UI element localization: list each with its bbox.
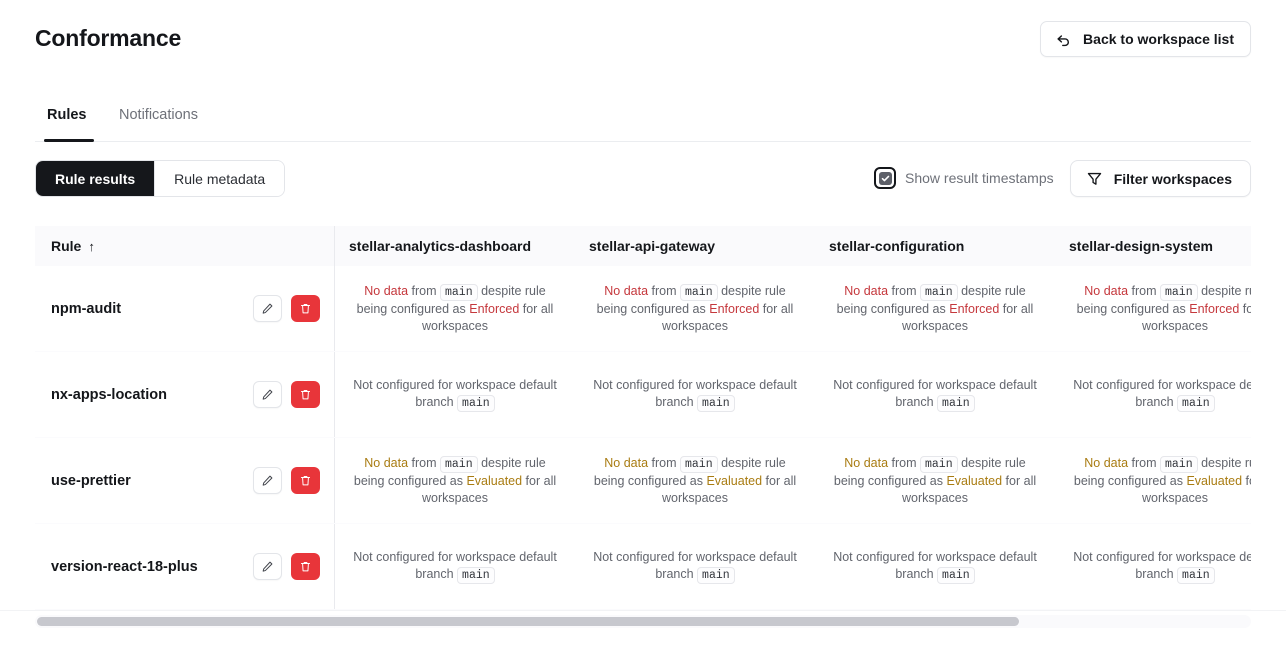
status-mode: Enforced — [949, 302, 999, 316]
column-header-workspace-1-label: stellar-analytics-dashboard — [349, 238, 531, 254]
column-header-rule-label: Rule — [51, 238, 81, 254]
tab-bar-divider — [35, 141, 1251, 142]
segment-rule-results-label: Rule results — [55, 171, 135, 187]
rule-name: use-prettier — [51, 473, 253, 489]
segment-rule-results[interactable]: Rule results — [36, 161, 154, 196]
segment-rule-metadata[interactable]: Rule metadata — [154, 161, 284, 196]
back-to-workspace-list-button[interactable]: Back to workspace list — [1040, 21, 1251, 57]
result-cell-workspace-2: No data from main despite rule being con… — [575, 438, 815, 523]
delete-rule-button[interactable] — [291, 381, 320, 408]
rule-actions — [253, 467, 320, 494]
rule-cell: use-prettier — [35, 438, 335, 523]
result-cell-workspace-3: Not configured for workspace default bra… — [815, 524, 1055, 609]
result-cell-workspace-2: Not configured for workspace default bra… — [575, 524, 815, 609]
result-message: Not configured for workspace default bra… — [1069, 377, 1251, 412]
conformance-page: Conformance Back to workspace list Rules… — [0, 0, 1286, 667]
rule-name: npm-audit — [51, 301, 253, 317]
status-not-configured: Not configured for workspace default bra… — [833, 550, 1037, 581]
page-title: Conformance — [35, 25, 181, 52]
table-bottom-divider — [0, 610, 1286, 611]
result-message: No data from main despite rule being con… — [829, 455, 1041, 507]
table-toolbar: Rule results Rule metadata Show result t… — [0, 160, 1286, 200]
result-message: No data from main despite rule being con… — [829, 283, 1041, 335]
branch-chip: main — [440, 456, 478, 473]
pencil-icon — [261, 560, 274, 573]
branch-chip: main — [680, 456, 718, 473]
result-message: No data from main despite rule being con… — [589, 283, 801, 335]
column-header-rule[interactable]: Rule ↑ — [35, 226, 335, 266]
result-cell-workspace-4: Not configured for workspace default bra… — [1055, 524, 1251, 609]
result-cell-workspace-4: Not configured for workspace default bra… — [1055, 352, 1251, 437]
table-row: version-react-18-plusNot configured for … — [35, 524, 1251, 610]
delete-rule-button[interactable] — [291, 553, 320, 580]
status-no-data: No data — [604, 456, 648, 470]
table-row: use-prettierNo data from main despite ru… — [35, 438, 1251, 524]
delete-rule-button[interactable] — [291, 467, 320, 494]
delete-rule-button[interactable] — [291, 295, 320, 322]
show-result-timestamps-label: Show result timestamps — [905, 170, 1054, 186]
status-mode: Evaluated — [946, 474, 1002, 488]
result-cell-workspace-2: Not configured for workspace default bra… — [575, 352, 815, 437]
result-message: Not configured for workspace default bra… — [589, 549, 801, 584]
page-header: Conformance Back to workspace list — [0, 0, 1286, 78]
rule-actions — [253, 295, 320, 322]
rules-results-table: Rule ↑ stellar-analytics-dashboard stell… — [35, 226, 1251, 610]
branch-chip: main — [457, 395, 495, 412]
trash-icon — [299, 474, 312, 487]
status-no-data: No data — [1084, 456, 1128, 470]
column-header-workspace-3[interactable]: stellar-configuration — [815, 226, 1055, 266]
result-message: Not configured for workspace default bra… — [349, 549, 561, 584]
status-not-configured: Not configured for workspace default bra… — [593, 378, 797, 409]
rule-actions — [253, 381, 320, 408]
column-header-workspace-4[interactable]: stellar-design-system — [1055, 226, 1251, 266]
status-no-data: No data — [604, 284, 648, 298]
result-cell-workspace-3: No data from main despite rule being con… — [815, 438, 1055, 523]
status-not-configured: Not configured for workspace default bra… — [353, 550, 557, 581]
result-message: Not configured for workspace default bra… — [829, 549, 1041, 584]
tab-rules[interactable]: Rules — [47, 104, 87, 142]
branch-chip: main — [1160, 284, 1198, 301]
show-result-timestamps-toggle[interactable]: Show result timestamps — [874, 167, 1054, 189]
result-cell-workspace-1: No data from main despite rule being con… — [335, 266, 575, 351]
status-not-configured: Not configured for workspace default bra… — [1073, 550, 1251, 581]
result-message: No data from main despite rule being con… — [1069, 283, 1251, 335]
result-message: Not configured for workspace default bra… — [1069, 549, 1251, 584]
result-cell-workspace-4: No data from main despite rule being con… — [1055, 266, 1251, 351]
rule-cell: nx-apps-location — [35, 352, 335, 437]
sort-ascending-icon: ↑ — [88, 239, 95, 254]
status-not-configured: Not configured for workspace default bra… — [593, 550, 797, 581]
tab-notifications-label: Notifications — [119, 107, 198, 123]
branch-chip: main — [440, 284, 478, 301]
pencil-icon — [261, 302, 274, 315]
trash-icon — [299, 302, 312, 315]
table-body: npm-auditNo data from main despite rule … — [35, 266, 1251, 610]
table-row: nx-apps-locationNot configured for works… — [35, 352, 1251, 438]
rule-name: nx-apps-location — [51, 387, 253, 403]
branch-chip: main — [697, 395, 735, 412]
view-mode-segmented-control: Rule results Rule metadata — [35, 160, 285, 197]
branch-chip: main — [680, 284, 718, 301]
status-not-configured: Not configured for workspace default bra… — [1073, 378, 1251, 409]
edit-rule-button[interactable] — [253, 467, 282, 494]
filter-funnel-icon — [1086, 170, 1103, 187]
status-mode: Enforced — [469, 302, 519, 316]
rules-results-table-viewport: Rule ↑ stellar-analytics-dashboard stell… — [35, 226, 1251, 611]
result-message: Not configured for workspace default bra… — [349, 377, 561, 412]
branch-chip: main — [937, 395, 975, 412]
edit-rule-button[interactable] — [253, 381, 282, 408]
status-no-data: No data — [844, 456, 888, 470]
tab-bar: Rules Notifications — [0, 104, 1286, 142]
horizontal-scrollbar-thumb[interactable] — [37, 617, 1019, 626]
branch-chip: main — [1160, 456, 1198, 473]
column-header-workspace-4-label: stellar-design-system — [1069, 238, 1213, 254]
branch-chip: main — [457, 567, 495, 584]
result-message: No data from main despite rule being con… — [349, 455, 561, 507]
filter-workspaces-label: Filter workspaces — [1114, 171, 1232, 187]
filter-workspaces-button[interactable]: Filter workspaces — [1070, 160, 1251, 197]
rule-cell: version-react-18-plus — [35, 524, 335, 609]
status-not-configured: Not configured for workspace default bra… — [353, 378, 557, 409]
segment-rule-metadata-label: Rule metadata — [174, 171, 265, 187]
table-header-row: Rule ↑ stellar-analytics-dashboard stell… — [35, 226, 1251, 266]
pencil-icon — [261, 388, 274, 401]
rule-actions — [253, 553, 320, 580]
back-button-label: Back to workspace list — [1083, 31, 1234, 47]
branch-chip: main — [697, 567, 735, 584]
back-arrow-icon — [1055, 31, 1072, 48]
status-mode: Enforced — [709, 302, 759, 316]
result-message: No data from main despite rule being con… — [1069, 455, 1251, 507]
status-no-data: No data — [364, 284, 408, 298]
result-cell-workspace-4: No data from main despite rule being con… — [1055, 438, 1251, 523]
result-message: No data from main despite rule being con… — [349, 283, 561, 335]
status-mode: Evaluated — [1186, 474, 1242, 488]
pencil-icon — [261, 474, 274, 487]
result-message: Not configured for workspace default bra… — [589, 377, 801, 412]
column-header-workspace-1[interactable]: stellar-analytics-dashboard — [335, 226, 575, 266]
trash-icon — [299, 388, 312, 401]
result-cell-workspace-1: Not configured for workspace default bra… — [335, 524, 575, 609]
status-no-data: No data — [364, 456, 408, 470]
horizontal-scrollbar-track[interactable] — [35, 615, 1251, 628]
checkbox-checked-icon[interactable] — [874, 167, 896, 189]
column-header-workspace-2[interactable]: stellar-api-gateway — [575, 226, 815, 266]
tab-notifications[interactable]: Notifications — [119, 104, 198, 142]
result-cell-workspace-3: No data from main despite rule being con… — [815, 266, 1055, 351]
result-message: No data from main despite rule being con… — [589, 455, 801, 507]
edit-rule-button[interactable] — [253, 553, 282, 580]
tab-rules-label: Rules — [47, 107, 87, 123]
result-cell-workspace-3: Not configured for workspace default bra… — [815, 352, 1055, 437]
rule-name: version-react-18-plus — [51, 559, 253, 575]
table-row: npm-auditNo data from main despite rule … — [35, 266, 1251, 352]
edit-rule-button[interactable] — [253, 295, 282, 322]
branch-chip: main — [920, 456, 958, 473]
branch-chip: main — [1177, 395, 1215, 412]
branch-chip: main — [937, 567, 975, 584]
status-mode: Enforced — [1189, 302, 1239, 316]
status-mode: Evaluated — [706, 474, 762, 488]
result-message: Not configured for workspace default bra… — [829, 377, 1041, 412]
tab-active-indicator — [44, 139, 94, 142]
status-not-configured: Not configured for workspace default bra… — [833, 378, 1037, 409]
branch-chip: main — [920, 284, 958, 301]
status-mode: Evaluated — [466, 474, 522, 488]
column-header-workspace-3-label: stellar-configuration — [829, 238, 964, 254]
status-no-data: No data — [844, 284, 888, 298]
branch-chip: main — [1177, 567, 1215, 584]
trash-icon — [299, 560, 312, 573]
result-cell-workspace-2: No data from main despite rule being con… — [575, 266, 815, 351]
status-no-data: No data — [1084, 284, 1128, 298]
rule-cell: npm-audit — [35, 266, 335, 351]
column-header-workspace-2-label: stellar-api-gateway — [589, 238, 715, 254]
result-cell-workspace-1: Not configured for workspace default bra… — [335, 352, 575, 437]
result-cell-workspace-1: No data from main despite rule being con… — [335, 438, 575, 523]
